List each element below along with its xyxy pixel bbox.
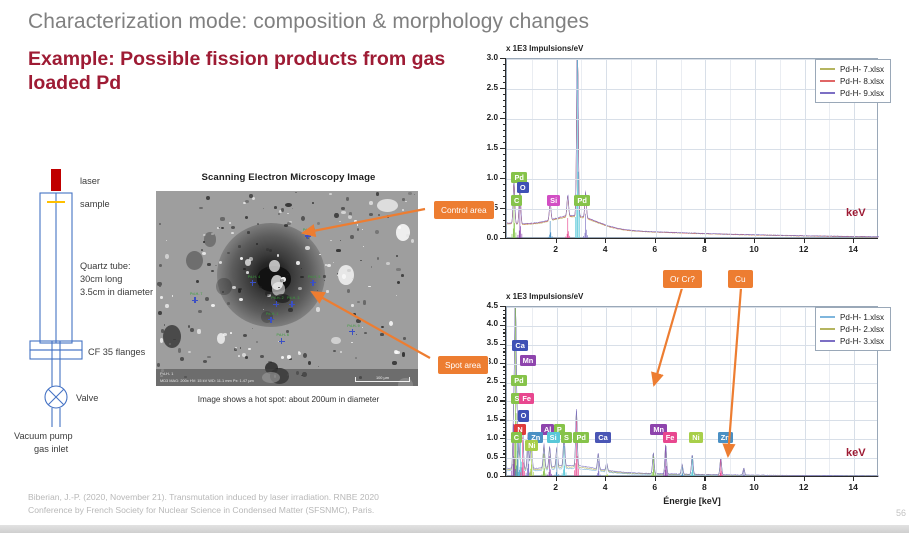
slide-root: Characterization mode: composition & mor… — [0, 0, 909, 533]
callout-or-cr[interactable]: Or Cr? — [663, 270, 702, 288]
arrow-or-cr — [654, 288, 682, 385]
arrow-spot-area — [312, 292, 430, 358]
callout-spot-area[interactable]: Spot area — [438, 356, 488, 374]
arrow-cu — [728, 288, 741, 456]
callout-arrows — [0, 0, 909, 533]
arrow-control-area — [303, 209, 425, 233]
callout-cu[interactable]: Cu — [728, 270, 753, 288]
callout-control-area[interactable]: Control area — [434, 201, 494, 219]
